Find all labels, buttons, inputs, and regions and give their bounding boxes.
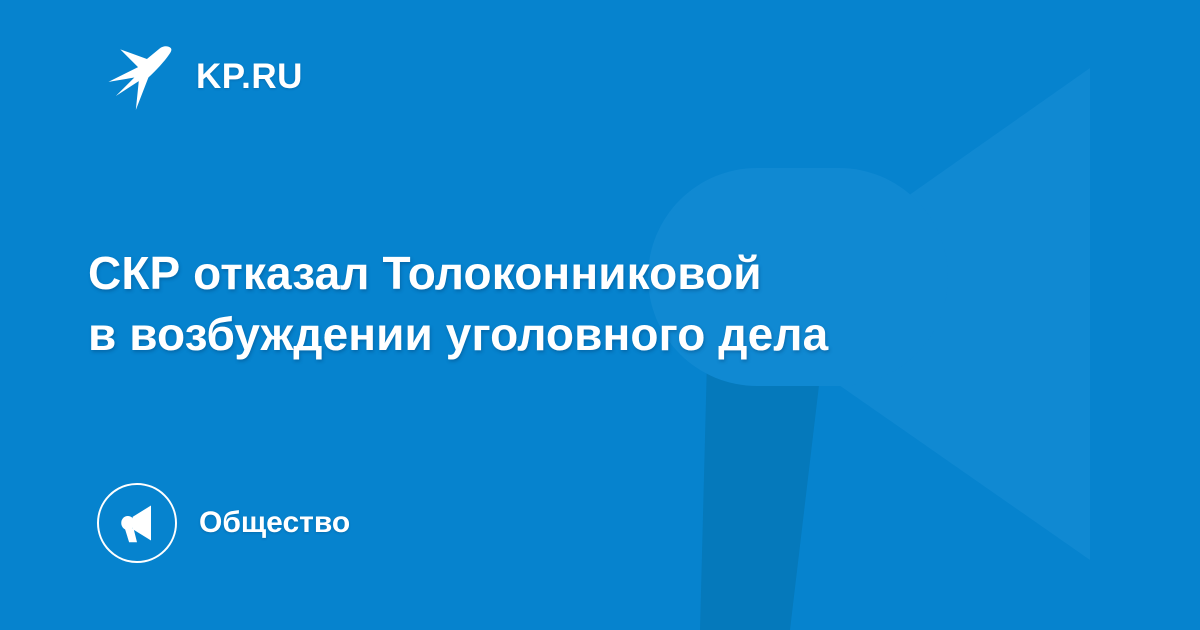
megaphone-icon [116,502,158,544]
rubric-badge[interactable]: Общество [97,483,350,563]
rubric-icon-circle [97,483,177,563]
headline-line-2: в возбуждении уголовного дела [88,304,1048,365]
swallow-bird-icon [104,39,178,113]
brand-logo[interactable]: KP.RU [104,33,303,119]
social-share-card: KP.RU СКР отказал Толоконниковой в возбу… [0,0,1200,630]
rubric-label: Общество [199,508,350,538]
headline-line-1: СКР отказал Толоконниковой [88,243,1048,304]
brand-wordmark: KP.RU [196,59,303,94]
headline: СКР отказал Толоконниковой в возбуждении… [88,243,1048,364]
